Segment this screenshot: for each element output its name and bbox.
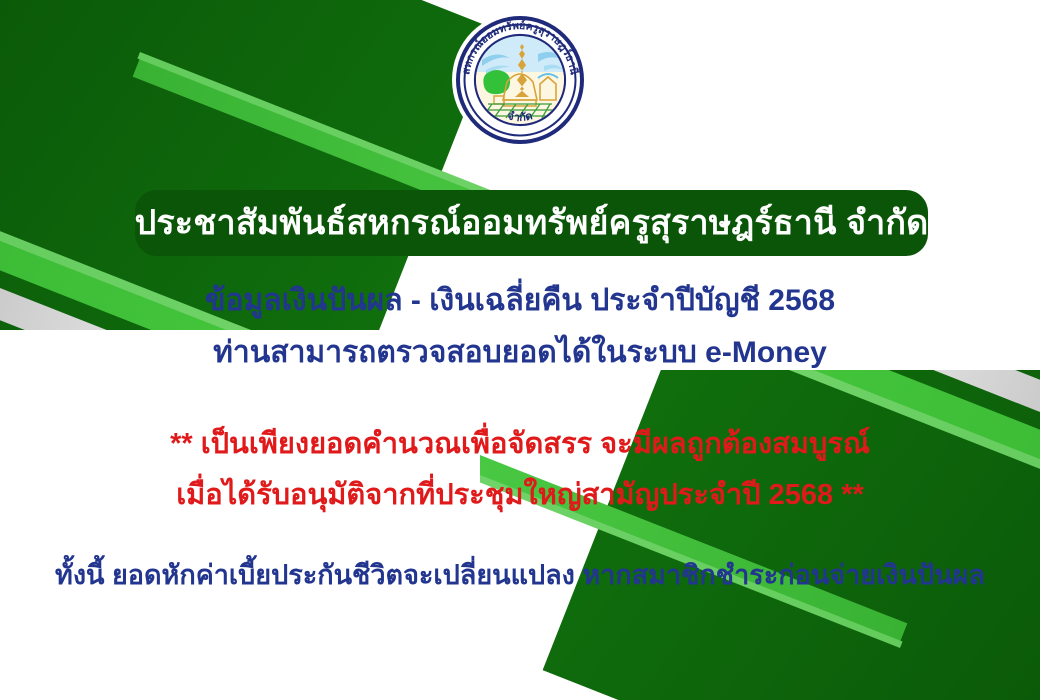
- cooperative-seal-logo: สหกรณ์ออมทรัพย์ครูสุราษฎร์ธานี จำกัด: [452, 12, 588, 148]
- warning-line-1: ** เป็นเพียงยอดคำนวณเพื่อจัดสรร จะมีผลถู…: [0, 430, 1040, 459]
- title-banner: ประชาสัมพันธ์สหกรณ์ออมทรัพย์ครูสุราษฎร์ธ…: [135, 190, 928, 256]
- footer-block: ทั้งนี้ ยอดหักค่าเบี้ยประกันชีวิตจะเปลี่…: [0, 562, 1040, 589]
- warning-block: ** เป็นเพียงยอดคำนวณเพื่อจัดสรร จะมีผลถู…: [0, 430, 1040, 510]
- logo-container: สหกรณ์ออมทรัพย์ครูสุราษฎร์ธานี จำกัด: [0, 12, 1040, 148]
- info-line-emoney: ท่านสามารถตรวจสอบยอดได้ในระบบ e-Money: [0, 338, 1040, 368]
- info-line-dividend: ข้อมูลเงินปันผล - เงินเฉลี่ยคืน ประจำปีบ…: [0, 286, 1040, 316]
- warning-line-2: เมื่อได้รับอนุมัติจากที่ประชุมใหญ่สามัญป…: [0, 481, 1040, 510]
- info-block: ข้อมูลเงินปันผล - เงินเฉลี่ยคืน ประจำปีบ…: [0, 286, 1040, 368]
- corner-decoration-bottom-right: [480, 370, 1040, 700]
- banner-title-text: ประชาสัมพันธ์สหกรณ์ออมทรัพย์ครูสุราษฎร์ธ…: [135, 206, 929, 240]
- footer-note: ทั้งนี้ ยอดหักค่าเบี้ยประกันชีวิตจะเปลี่…: [0, 562, 1040, 589]
- cooperative-seal-icon: สหกรณ์ออมทรัพย์ครูสุราษฎร์ธานี จำกัด: [452, 12, 588, 148]
- announcement-poster: สหกรณ์ออมทรัพย์ครูสุราษฎร์ธานี จำกัด ประ…: [0, 0, 1040, 700]
